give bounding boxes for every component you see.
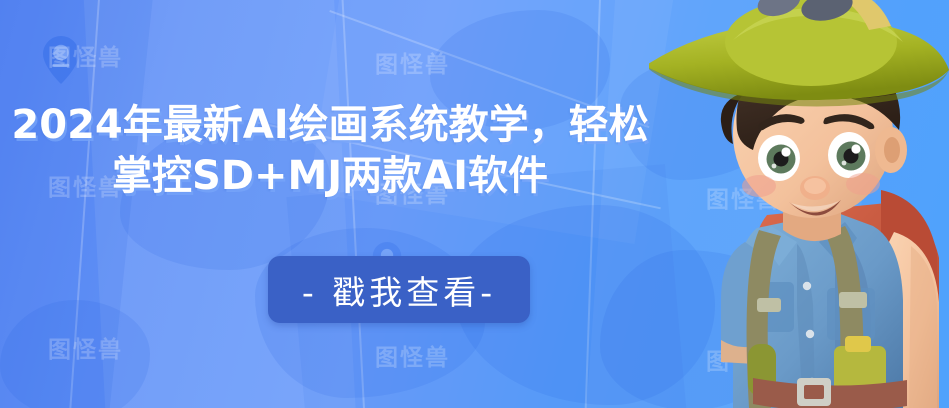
- map-seam-line: [250, 120, 661, 209]
- map-seam-line: [578, 0, 602, 408]
- map-seam-line: [340, 0, 375, 408]
- background-panel-5: [582, 0, 878, 408]
- promo-banner: 图怪兽 图怪兽 图怪兽 图怪兽 图怪兽 图怪兽 图怪兽 图怪兽 图怪兽 2024…: [0, 0, 949, 408]
- map-continent-shape: [600, 250, 800, 408]
- headline-block: 2024年最新AI绘画系统教学，轻松 掌控SD+MJ两款AI软件: [0, 100, 660, 202]
- map-continent-shape: [0, 300, 150, 408]
- map-seam-line: [329, 10, 649, 128]
- background-panel-1: [0, 0, 156, 408]
- watermark-text: 图怪兽: [375, 45, 450, 79]
- cta-button-label: - 戳我查看-: [302, 266, 496, 314]
- watermark-text: 图怪兽: [706, 50, 781, 84]
- watermark-text: 图怪兽: [48, 168, 123, 202]
- headline-line-2: 掌控SD+MJ两款AI软件: [0, 151, 660, 202]
- map-pin-icon: [42, 36, 80, 84]
- map-continent-shape: [620, 60, 770, 180]
- cta-button[interactable]: - 戳我查看-: [268, 256, 530, 323]
- watermark-text: 图怪兽: [48, 38, 123, 72]
- watermark-text: 图怪兽: [375, 338, 450, 372]
- watermark-text: 图怪兽: [706, 180, 781, 214]
- headline-line-1: 2024年最新AI绘画系统教学，轻松: [0, 100, 660, 151]
- map-continent-shape: [430, 10, 610, 130]
- explorer-boy-illustration: [649, 0, 949, 408]
- background-panel-2: [81, 0, 359, 408]
- background-panel-3: [309, 0, 682, 244]
- map-seam-line: [55, 0, 101, 408]
- map-continent-shape: [120, 120, 330, 270]
- watermark-text: 图怪兽: [48, 330, 123, 364]
- watermark-text: 图怪兽: [375, 175, 450, 209]
- watermark-text: 图怪兽: [706, 342, 781, 376]
